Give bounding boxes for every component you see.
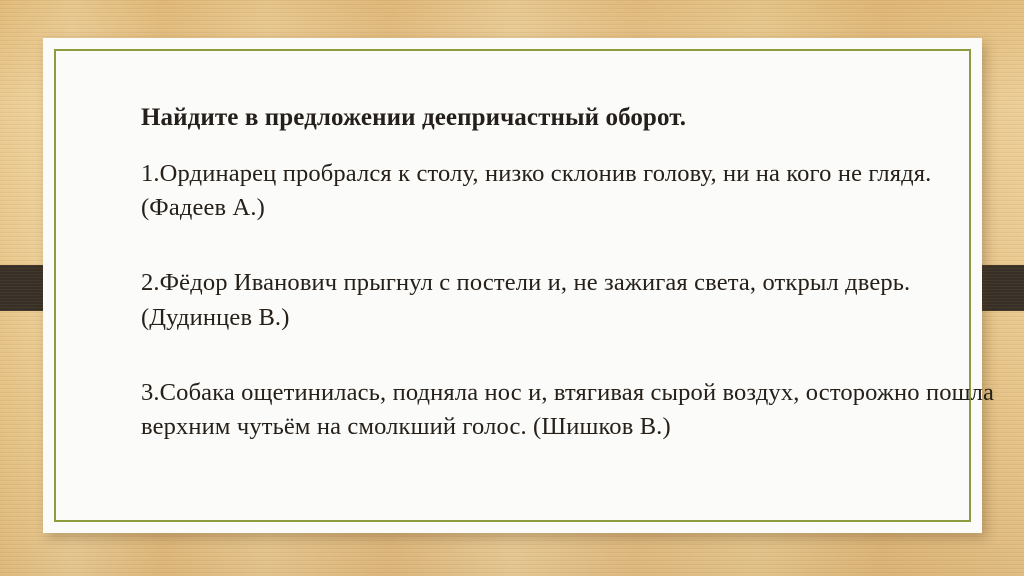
exercise-sentence-2: 2.Фёдор Иванович прыгнул с постели и, не… (141, 266, 1003, 336)
slide-canvas: Найдите в предложении деепричастный обор… (0, 0, 1024, 576)
text-content-block: Найдите в предложении деепричастный обор… (141, 102, 1003, 445)
exercise-sentence-3: 3.Собака ощетинилась, подняла нос и, втя… (141, 376, 1003, 446)
content-card: Найдите в предложении деепричастный обор… (43, 38, 982, 533)
exercise-sentence-1: 1.Ординарец пробрался к столу, низко скл… (141, 157, 1003, 227)
slide-title: Найдите в предложении деепричастный обор… (141, 102, 1003, 135)
